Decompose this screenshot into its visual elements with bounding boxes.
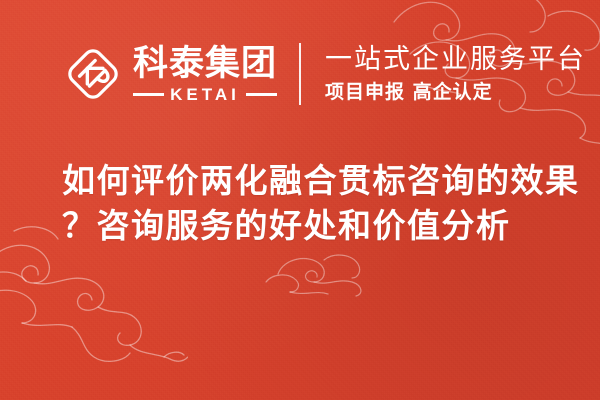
company-name-en-row: KETAI [133, 86, 277, 103]
wordmark-rule-left [133, 93, 164, 96]
company-name-cn: 科泰集团 [133, 45, 277, 83]
tagline-primary: 一站式企业服务平台 [325, 44, 586, 76]
tagline-secondary: 项目申报 高企认定 [325, 80, 586, 104]
ketai-diamond-monogram-logo-icon [62, 43, 124, 105]
promo-banner: 科泰集团 KETAI 一站式企业服务平台 项目申报 高企认定 如何评价两化融合贯… [0, 0, 600, 400]
headline-line-2: ？咨询服务的好处和价值分析 [62, 203, 562, 248]
headline-line-1: 如何评价两化融合贯标咨询的效果 [62, 158, 562, 203]
cloud-pattern-center [262, 248, 372, 303]
wordmark-rule-right [246, 93, 277, 96]
headline-block: 如何评价两化融合贯标咨询的效果 ？咨询服务的好处和价值分析 [62, 158, 562, 248]
tagline-block: 一站式企业服务平台 项目申报 高企认定 [325, 44, 586, 104]
banner-header: 科泰集团 KETAI 一站式企业服务平台 项目申报 高企认定 [62, 38, 586, 110]
header-vertical-divider [299, 43, 301, 105]
logo-wordmark: 科泰集团 KETAI [133, 45, 277, 103]
company-name-en: KETAI [164, 86, 246, 103]
